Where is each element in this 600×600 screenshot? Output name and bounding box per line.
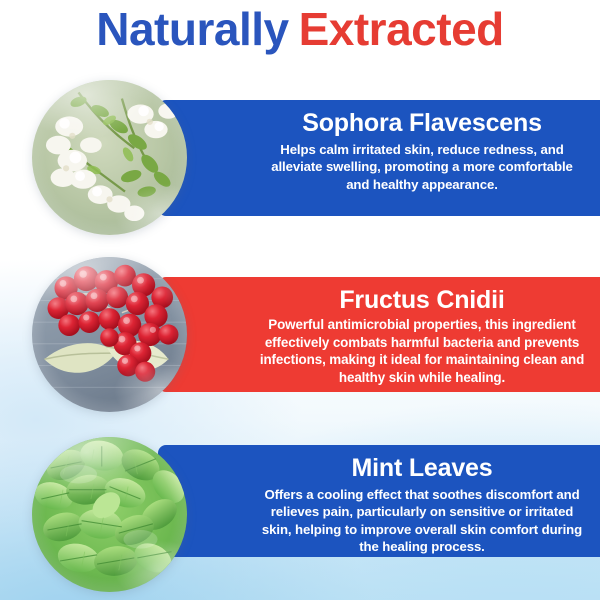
mint-leaves-icon (32, 437, 187, 592)
page-title-primary: Naturally (96, 3, 288, 55)
ingredient-name: Sophora Flavescens (258, 109, 586, 138)
ingredient-description: Offers a cooling effect that soothes dis… (258, 486, 586, 556)
ingredient-row-sophora-flavescens: Sophora Flavescens Helps calm irritated … (0, 80, 600, 240)
sophora-flavescens-icon (32, 80, 187, 235)
ingredient-row-fructus-cnidii: Fructus Cnidii Powerful antimicrobial pr… (0, 257, 600, 417)
fructus-cnidii-icon (32, 257, 187, 412)
ingredient-banner: Fructus Cnidii Powerful antimicrobial pr… (158, 277, 600, 392)
ingredient-banner: Sophora Flavescens Helps calm irritated … (158, 100, 600, 216)
ingredient-image-fructus-cnidii (32, 257, 187, 412)
ingredient-image-sophora-flavescens (32, 80, 187, 235)
ingredient-description: Helps calm irritated skin, reduce rednes… (258, 141, 586, 194)
ingredient-description: Powerful antimicrobial properties, this … (258, 316, 586, 387)
ingredient-poster: NaturallyExtracted Sophora Flavescens He… (0, 0, 600, 600)
ingredient-banner: Mint Leaves Offers a cooling effect that… (158, 445, 600, 557)
ingredient-row-mint-leaves: Mint Leaves Offers a cooling effect that… (0, 437, 600, 600)
ingredient-name: Fructus Cnidii (258, 286, 586, 315)
page-title-accent: Extracted (299, 3, 504, 55)
page-title: NaturallyExtracted (0, 6, 600, 52)
ingredient-name: Mint Leaves (258, 454, 586, 483)
ingredient-image-mint-leaves (32, 437, 187, 592)
